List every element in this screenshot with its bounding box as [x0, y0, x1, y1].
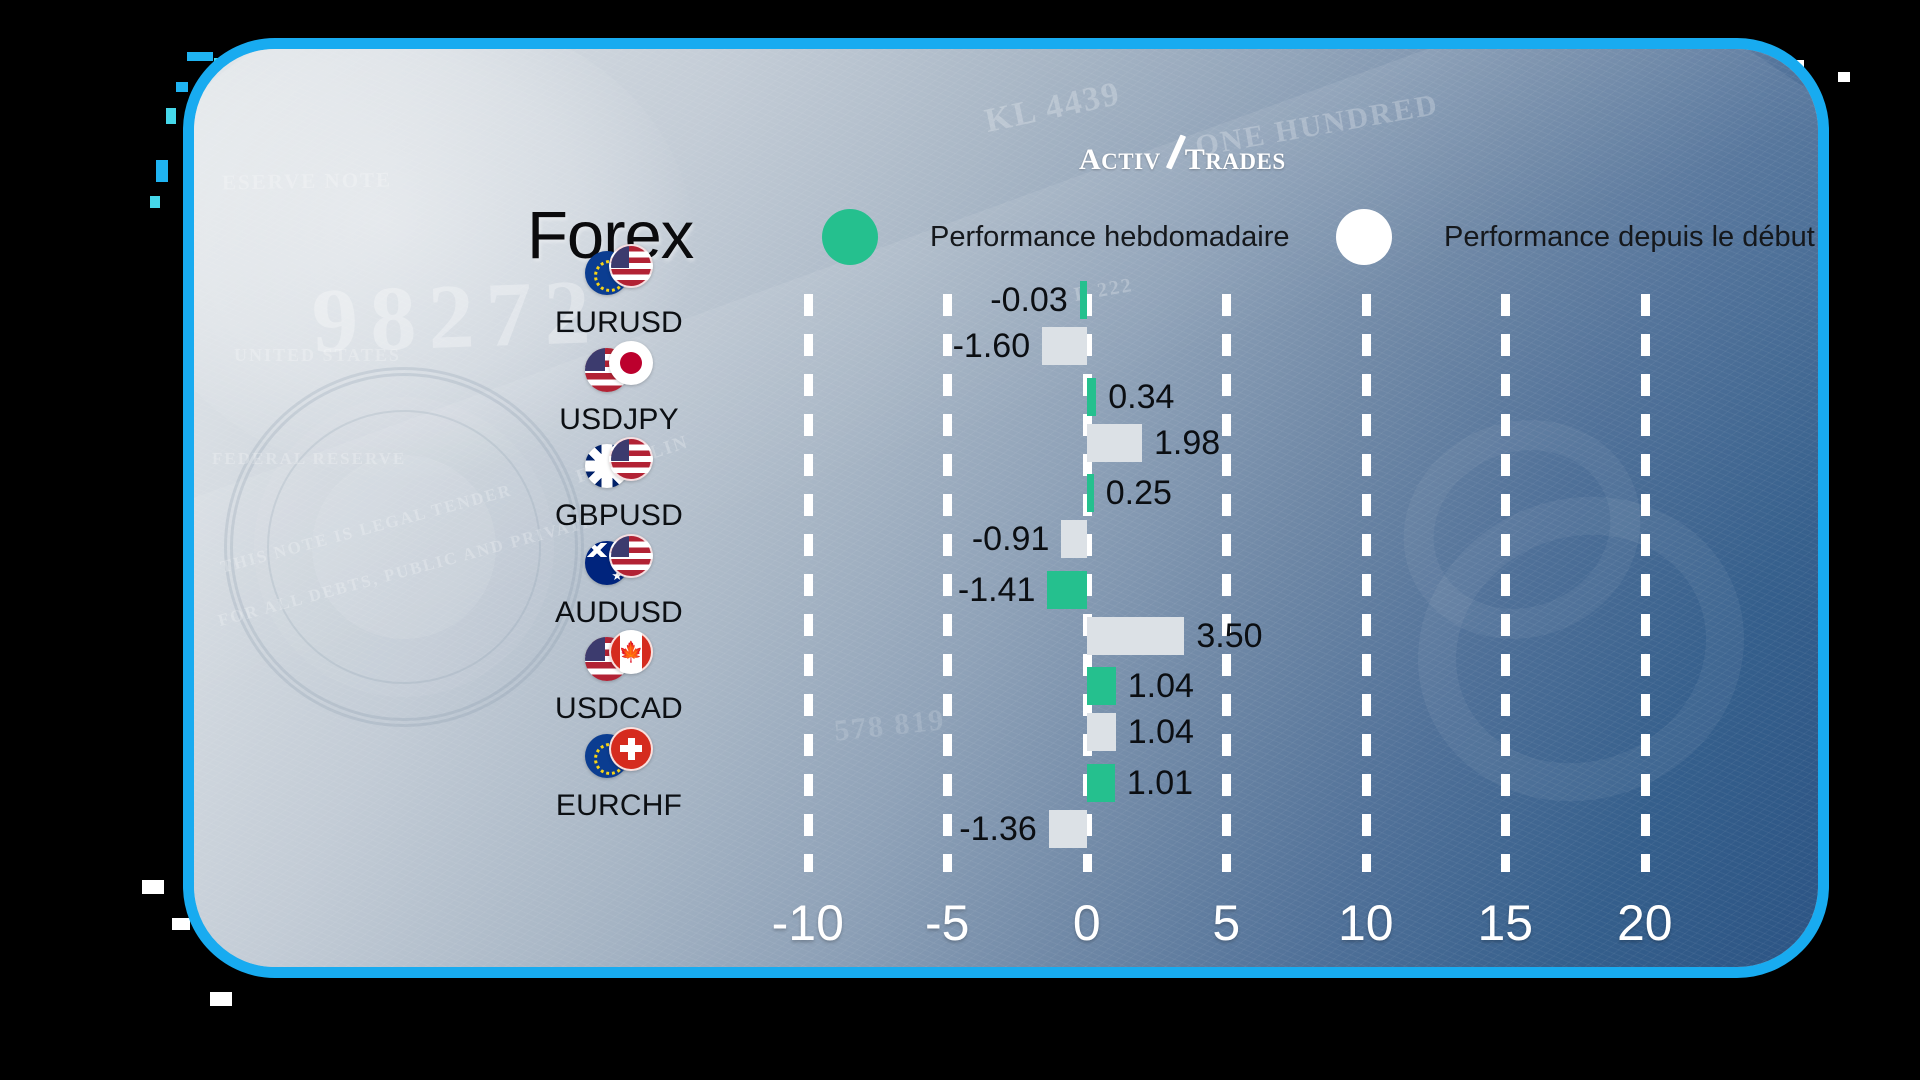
- bar-value-label: -1.60: [953, 327, 1031, 365]
- bar-value-label: -1.41: [958, 571, 1036, 609]
- flag-us-icon: [609, 437, 653, 481]
- bar-gbpusd-weekly[interactable]: [1087, 474, 1094, 512]
- x-tick-label: 10: [1338, 894, 1394, 952]
- bar-value-label: 3.50: [1196, 617, 1262, 655]
- flag-ch-icon: [609, 727, 653, 771]
- category-label: EURUSD: [494, 306, 744, 340]
- category-gbpusd: GBPUSD: [494, 444, 744, 533]
- gridline-10: [1362, 294, 1371, 872]
- edge-artifact: [1838, 72, 1850, 82]
- gridline--5: [943, 294, 952, 872]
- bar-usdjpy-ytd[interactable]: [1087, 424, 1142, 462]
- edge-artifact: [176, 82, 188, 92]
- bar-audusd-weekly[interactable]: [1047, 571, 1086, 609]
- bar-value-label: 0.25: [1106, 474, 1172, 512]
- flag-pair-icon: [579, 637, 659, 689]
- bar-value-label: 1.01: [1127, 764, 1193, 802]
- flag-pair-icon: [579, 444, 659, 496]
- flag-us-icon: [609, 244, 653, 288]
- x-tick-label: 20: [1617, 894, 1673, 952]
- bar-eurchf-ytd[interactable]: [1049, 810, 1087, 848]
- bar-value-label: 1.98: [1154, 424, 1220, 462]
- gridline-5: [1222, 294, 1231, 872]
- edge-artifact: [150, 196, 160, 208]
- x-tick-label: -5: [925, 894, 969, 952]
- edge-artifact: [210, 992, 232, 1006]
- bar-eurchf-weekly[interactable]: [1087, 764, 1115, 802]
- chart-card: 98272 ESERVE NOTE UNITED STATES FEDERAL …: [183, 38, 1829, 978]
- category-label: USDJPY: [494, 403, 744, 437]
- gridline-15: [1501, 294, 1510, 872]
- bar-eurusd-ytd[interactable]: [1042, 327, 1087, 365]
- bar-gbpusd-ytd[interactable]: [1061, 520, 1086, 558]
- bar-value-label: -0.91: [972, 520, 1050, 558]
- bar-value-label: 1.04: [1128, 667, 1194, 705]
- chart-plot-area: -10-505101520EURUSD-0.03-1.60USDJPY0.341…: [194, 49, 1818, 967]
- bar-usdcad-ytd[interactable]: [1087, 713, 1116, 751]
- edge-artifact: [166, 108, 176, 124]
- category-label: AUDUSD: [494, 596, 744, 630]
- category-usdjpy: USDJPY: [494, 348, 744, 437]
- category-label: USDCAD: [494, 692, 744, 726]
- bar-value-label: 0.34: [1108, 378, 1174, 416]
- bar-value-label: 1.04: [1128, 713, 1194, 751]
- bar-usdjpy-weekly[interactable]: [1087, 378, 1096, 416]
- flag-pair-icon: [579, 541, 659, 593]
- category-eurchf: EURCHF: [494, 734, 744, 823]
- category-eurusd: EURUSD: [494, 251, 744, 340]
- screenshot-root: 98272 ESERVE NOTE UNITED STATES FEDERAL …: [0, 0, 1920, 1080]
- x-tick-label: 5: [1212, 894, 1240, 952]
- bar-value-label: -1.36: [959, 810, 1037, 848]
- category-usdcad: USDCAD: [494, 637, 744, 726]
- flag-pair-icon: [579, 734, 659, 786]
- bar-value-label: -0.03: [990, 281, 1068, 319]
- flag-pair-icon: [579, 251, 659, 303]
- x-tick-label: 15: [1477, 894, 1533, 952]
- gridline--10: [804, 294, 813, 872]
- bar-eurusd-weekly[interactable]: [1080, 281, 1087, 319]
- edge-artifact: [172, 918, 190, 930]
- flag-pair-icon: [579, 348, 659, 400]
- x-tick-label: -10: [772, 894, 844, 952]
- flag-ca-icon: [609, 630, 653, 674]
- category-audusd: AUDUSD: [494, 541, 744, 630]
- x-tick-label: 0: [1073, 894, 1101, 952]
- edge-artifact: [142, 880, 164, 894]
- bar-usdcad-weekly[interactable]: [1087, 667, 1116, 705]
- gridline-20: [1641, 294, 1650, 872]
- category-label: EURCHF: [494, 789, 744, 823]
- flag-jp-icon: [609, 341, 653, 385]
- flag-us-icon: [609, 534, 653, 578]
- edge-artifact: [156, 160, 168, 182]
- bar-audusd-ytd[interactable]: [1087, 617, 1185, 655]
- x-axis-title: % Performance en pourcentage: [194, 969, 1434, 978]
- category-label: GBPUSD: [494, 499, 744, 533]
